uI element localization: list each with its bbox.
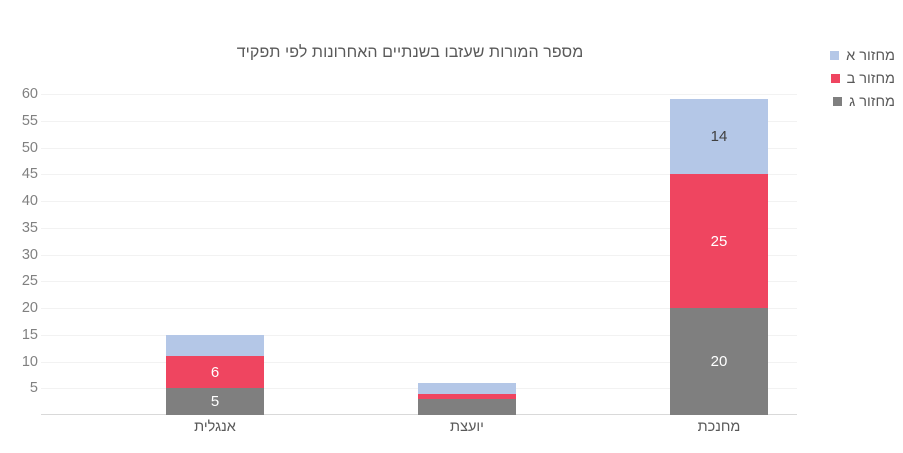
x-axis-tick-label: אנגלית — [135, 419, 295, 435]
bar-segment[interactable]: 20 — [670, 308, 768, 415]
y-axis-tick-label: 30 — [4, 247, 38, 262]
y-axis-tick-label: 5 — [4, 381, 38, 396]
bar-segment[interactable] — [418, 399, 516, 415]
legend-swatch-icon — [833, 97, 842, 106]
legend-swatch-icon — [831, 74, 840, 83]
legend-item[interactable]: מחזור א — [830, 44, 895, 67]
y-axis: 60555045403530252015105 — [0, 94, 38, 415]
y-axis-tick-label: 15 — [4, 328, 38, 343]
legend-item-label: מחזור ב — [847, 71, 895, 87]
bar-segment[interactable] — [418, 383, 516, 394]
y-axis-tick-label: 40 — [4, 194, 38, 209]
x-axis-tick-label: יועצת — [387, 419, 547, 435]
x-axis: אנגליתיועצתמחנכת — [41, 419, 797, 449]
legend-item[interactable]: מחזור ג — [830, 90, 895, 113]
chart-title: מספר המורות שעזבו בשנתיים האחרונות לפי ת… — [0, 44, 820, 62]
legend-item[interactable]: מחזור ב — [830, 67, 895, 90]
y-axis-tick-label: 60 — [4, 87, 38, 102]
bar-stack[interactable]: 65 — [166, 335, 264, 415]
y-axis-tick-label: 55 — [4, 114, 38, 129]
bar-segment-label: 6 — [211, 365, 219, 380]
plot-area: 65142520 — [41, 94, 797, 415]
bar-stack[interactable]: 142520 — [670, 99, 768, 415]
gridline — [41, 94, 797, 95]
legend-item-label: מחזור ג — [849, 94, 895, 110]
legend-swatch-icon — [830, 51, 839, 60]
stacked-bar-chart: מספר המורות שעזבו בשנתיים האחרונות לפי ת… — [0, 0, 903, 453]
bar-segment[interactable]: 6 — [166, 356, 264, 388]
bar-segment[interactable]: 5 — [166, 388, 264, 415]
bar-segment[interactable] — [166, 335, 264, 356]
bar-segment-label: 20 — [711, 354, 728, 369]
bar-stack[interactable] — [418, 383, 516, 415]
y-axis-tick-label: 50 — [4, 140, 38, 155]
bar-segment-label: 14 — [711, 129, 728, 144]
y-axis-tick-label: 25 — [4, 274, 38, 289]
y-axis-tick-label: 45 — [4, 167, 38, 182]
legend-item-label: מחזור א — [846, 48, 895, 64]
bar-segment-label: 5 — [211, 394, 219, 409]
chart-legend: מחזור אמחזור במחזור ג — [830, 44, 895, 113]
y-axis-tick-label: 10 — [4, 354, 38, 369]
bar-segment[interactable]: 14 — [670, 99, 768, 174]
y-axis-tick-label: 20 — [4, 301, 38, 316]
bar-segment-label: 25 — [711, 234, 728, 249]
x-axis-tick-label: מחנכת — [639, 419, 799, 435]
bar-segment[interactable]: 25 — [670, 174, 768, 308]
y-axis-tick-label: 35 — [4, 221, 38, 236]
